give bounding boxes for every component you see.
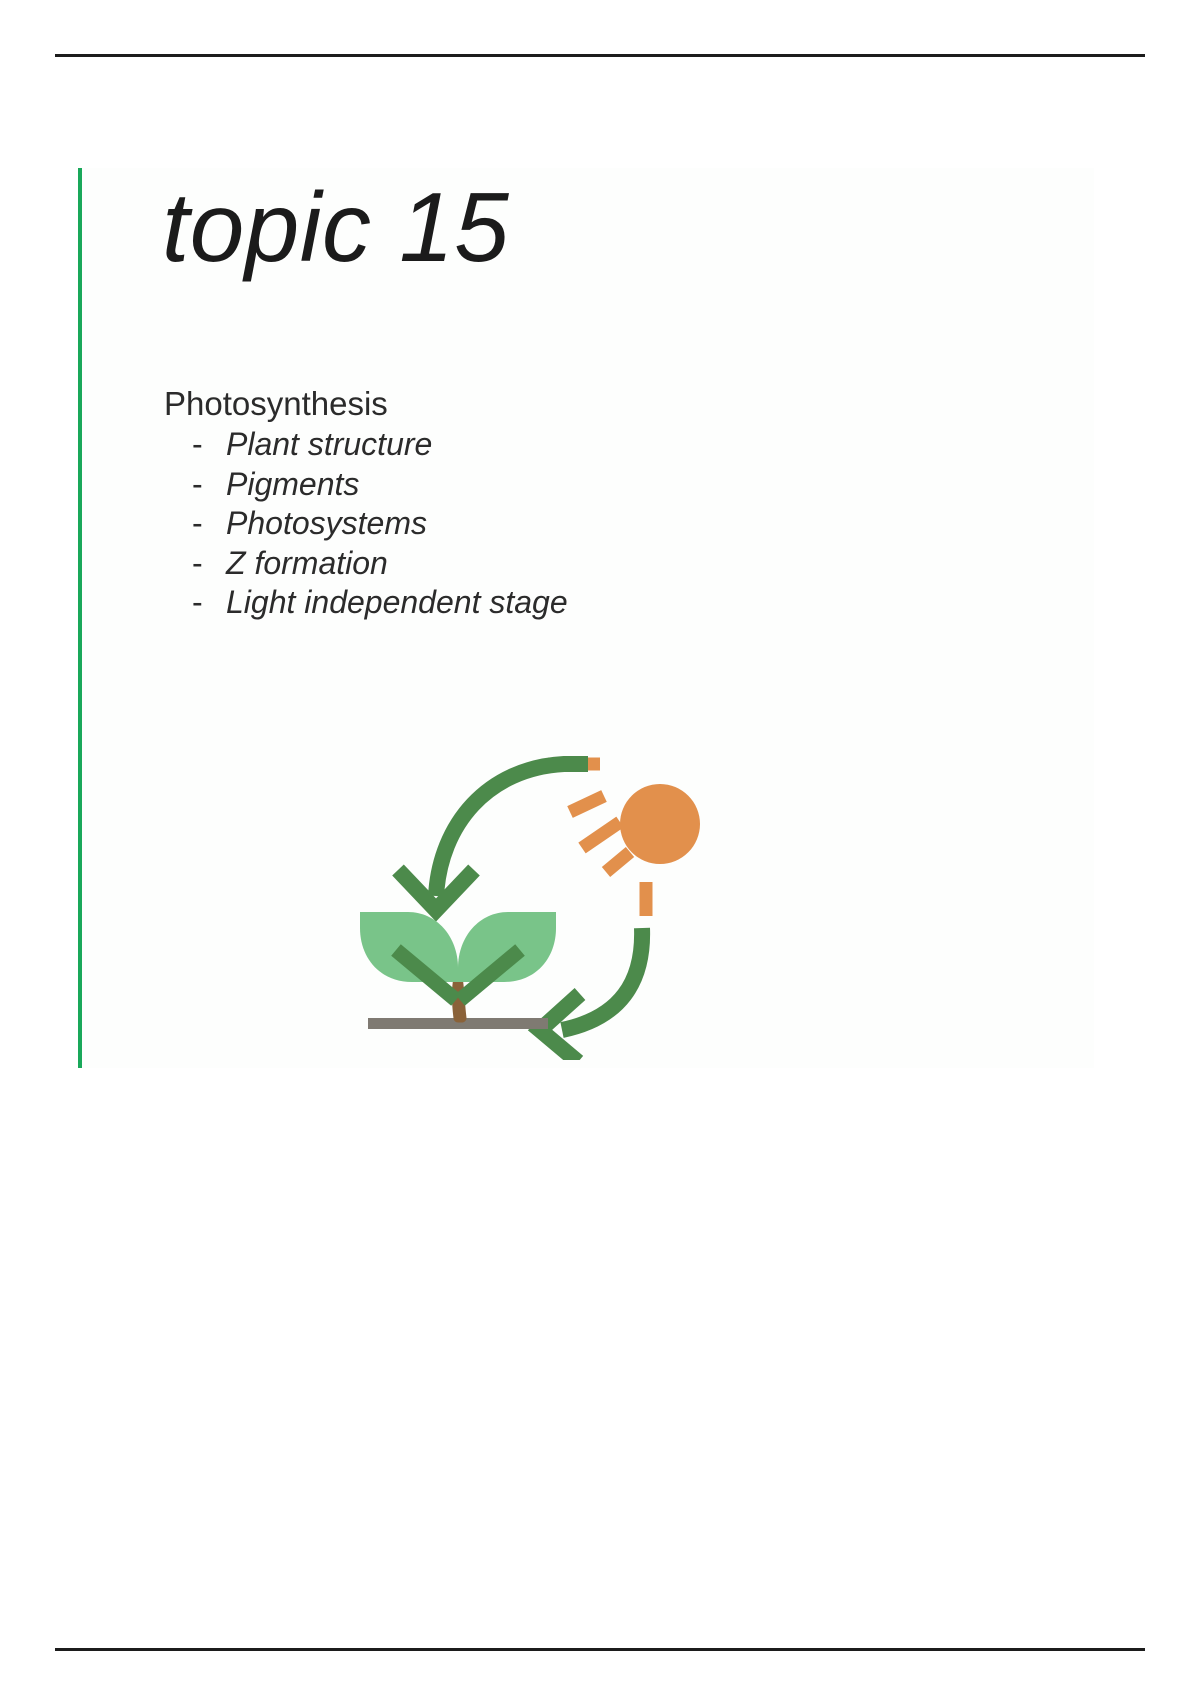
list-item: - Plant structure bbox=[192, 425, 568, 465]
list-item: - Light independent stage bbox=[192, 583, 568, 623]
document-page: topic 15 Photosynthesis - Plant structur… bbox=[0, 0, 1200, 1700]
leaf-left bbox=[360, 912, 458, 982]
bullet-dash-marker: - bbox=[192, 504, 226, 544]
bottom-divider-rule bbox=[55, 1648, 1145, 1651]
leaf-right bbox=[458, 912, 556, 982]
green-accent-bar bbox=[78, 168, 82, 1068]
sun-icon bbox=[620, 784, 700, 864]
bullet-label: Z formation bbox=[226, 544, 388, 584]
bullet-dash-marker: - bbox=[192, 544, 226, 584]
arrow-curve-right-icon bbox=[540, 928, 642, 1060]
section-heading: Photosynthesis bbox=[164, 385, 388, 423]
photosynthesis-cycle-icon bbox=[352, 700, 712, 1060]
bullet-label: Light independent stage bbox=[226, 583, 568, 623]
top-divider-rule bbox=[55, 54, 1145, 57]
arrow-down-left-icon bbox=[398, 764, 588, 910]
topic-bullet-list: - Plant structure - Pigments - Photosyst… bbox=[192, 425, 568, 623]
list-item: - Z formation bbox=[192, 544, 568, 584]
page-title: topic 15 bbox=[162, 176, 509, 279]
bullet-label: Pigments bbox=[226, 465, 359, 505]
bullet-label: Plant structure bbox=[226, 425, 432, 465]
bullet-dash-marker: - bbox=[192, 583, 226, 623]
bullet-dash-marker: - bbox=[192, 465, 226, 505]
bullet-label: Photosystems bbox=[226, 504, 427, 544]
list-item: - Pigments bbox=[192, 465, 568, 505]
bullet-dash-marker: - bbox=[192, 425, 226, 465]
list-item: - Photosystems bbox=[192, 504, 568, 544]
